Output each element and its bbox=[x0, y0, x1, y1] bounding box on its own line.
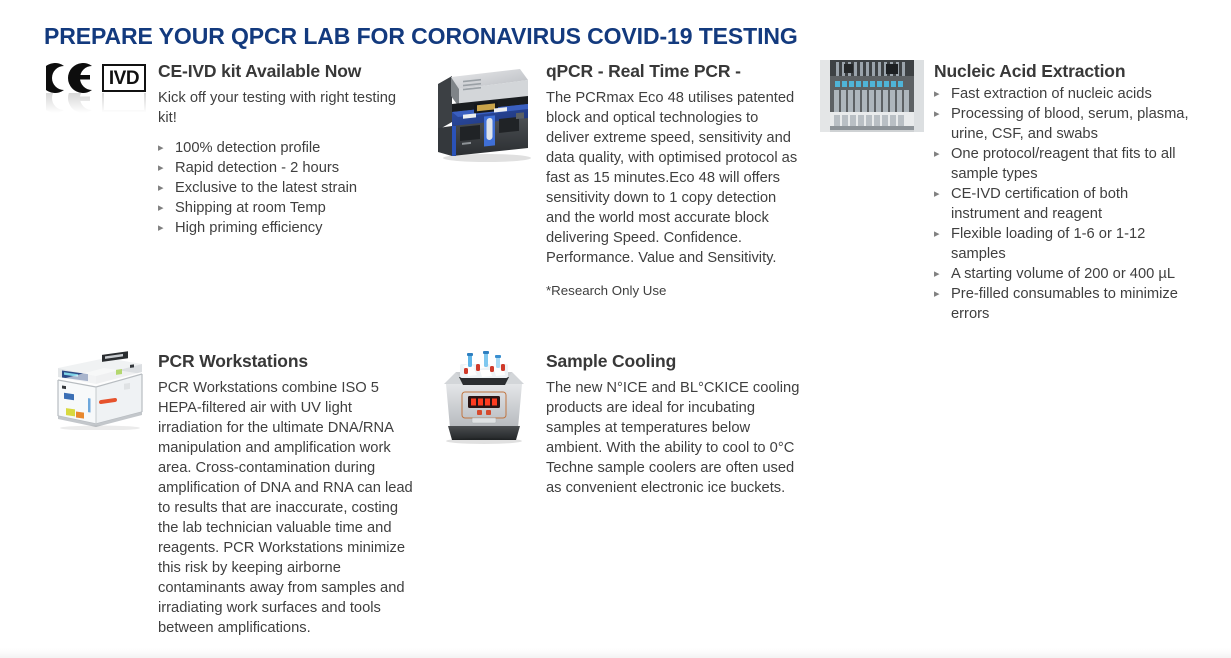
list-item-label: Processing of blood, serum, plasma, urin… bbox=[951, 106, 1189, 142]
ce-ivd-marks: IVD bbox=[44, 60, 148, 112]
bullet-icon: ▸ bbox=[934, 104, 940, 124]
ivd-label: IVD bbox=[109, 69, 139, 88]
card-note-qpcr: *Research Only Use bbox=[546, 282, 802, 300]
card-title-ce-ivd: CE-IVD kit Available Now bbox=[158, 60, 416, 82]
list-item-label: 100% detection profile bbox=[175, 140, 320, 156]
pcr-workstation-image bbox=[44, 350, 148, 430]
card-title-pcr-workstations: PCR Workstations bbox=[158, 350, 416, 372]
card-title-sample-cooling: Sample Cooling bbox=[546, 350, 802, 372]
ce-ivd-reflection bbox=[44, 93, 148, 113]
bullet-icon: ▸ bbox=[158, 158, 164, 178]
list-item-label: A starting volume of 200 or 400 µL bbox=[951, 266, 1175, 282]
bullet-list-nucleic-acid: ▸Fast extraction of nucleic acids ▸Proce… bbox=[934, 84, 1190, 324]
page-root: PREPARE YOUR QPCR LAB FOR CORONAVIRUS CO… bbox=[0, 0, 1231, 658]
list-item-label: High priming efficiency bbox=[175, 220, 322, 236]
qpcr-instrument-photo bbox=[432, 60, 536, 164]
nucleic-acid-extractor-photo bbox=[820, 60, 924, 132]
list-item: ▸Fast extraction of nucleic acids bbox=[934, 84, 1190, 104]
bullet-icon: ▸ bbox=[934, 264, 940, 284]
bullet-icon: ▸ bbox=[934, 84, 940, 104]
nucleic-acid-extractor-image bbox=[820, 60, 924, 132]
card-sample-cooling: Sample Cooling The new N°ICE and BL°CKIC… bbox=[432, 350, 802, 498]
list-item-label: Flexible loading of 1-6 or 1-12 samples bbox=[951, 226, 1145, 262]
ce-mark-icon bbox=[46, 63, 94, 93]
list-item: ▸Pre-filled consumables to minimize erro… bbox=[934, 284, 1190, 324]
list-item: ▸Rapid detection - 2 hours bbox=[158, 158, 416, 178]
card-text-pcr-workstations: PCR Workstations combine ISO 5 HEPA-filt… bbox=[158, 378, 416, 638]
list-item-label: CE-IVD certification of both instrument … bbox=[951, 186, 1128, 222]
list-item-label: Pre-filled consumables to minimize error… bbox=[951, 286, 1178, 322]
bullet-icon: ▸ bbox=[158, 178, 164, 198]
sample-cooler-image bbox=[432, 350, 536, 446]
bullet-icon: ▸ bbox=[934, 224, 940, 244]
card-qpcr: qPCR - Real Time PCR - The PCRmax Eco 48… bbox=[432, 60, 802, 300]
list-item: ▸Flexible loading of 1-6 or 1-12 samples bbox=[934, 224, 1190, 264]
card-text-sample-cooling: The new N°ICE and BL°CKICE cooling produ… bbox=[546, 378, 802, 498]
list-item: ▸Processing of blood, serum, plasma, uri… bbox=[934, 104, 1190, 144]
list-item-label: Fast extraction of nucleic acids bbox=[951, 86, 1152, 102]
page-title: PREPARE YOUR QPCR LAB FOR CORONAVIRUS CO… bbox=[44, 23, 798, 50]
card-pcr-workstations: PCR Workstations PCR Workstations combin… bbox=[44, 350, 416, 638]
bullet-icon: ▸ bbox=[158, 138, 164, 158]
list-item-label: Exclusive to the latest strain bbox=[175, 180, 357, 196]
list-item-label: Shipping at room Temp bbox=[175, 200, 326, 216]
list-item-label: One protocol/reagent that fits to all sa… bbox=[951, 146, 1176, 182]
card-text-ce-ivd: Kick off your testing with right testing… bbox=[158, 88, 416, 128]
card-nucleic-acid: Nucleic Acid Extraction ▸Fast extraction… bbox=[820, 60, 1190, 324]
pcr-workstation-photo bbox=[44, 350, 148, 430]
list-item: ▸Exclusive to the latest strain bbox=[158, 178, 416, 198]
card-text-qpcr: The PCRmax Eco 48 utilises patented bloc… bbox=[546, 88, 802, 268]
bullet-icon: ▸ bbox=[934, 284, 940, 304]
list-item: ▸Shipping at room Temp bbox=[158, 198, 416, 218]
list-item: ▸CE-IVD certification of both instrument… bbox=[934, 184, 1190, 224]
ivd-mark-icon: IVD bbox=[102, 64, 146, 92]
list-item: ▸A starting volume of 200 or 400 µL bbox=[934, 264, 1190, 284]
list-item: ▸High priming efficiency bbox=[158, 218, 416, 238]
card-title-qpcr: qPCR - Real Time PCR - bbox=[546, 60, 802, 82]
list-item: ▸One protocol/reagent that fits to all s… bbox=[934, 144, 1190, 184]
sample-cooler-photo bbox=[432, 350, 536, 446]
bullet-list-ce-ivd: ▸100% detection profile ▸Rapid detection… bbox=[158, 138, 416, 238]
bullet-icon: ▸ bbox=[158, 218, 164, 238]
list-item: ▸100% detection profile bbox=[158, 138, 416, 158]
bullet-icon: ▸ bbox=[158, 198, 164, 218]
card-ce-ivd: IVD CE-IVD kit Available Now Kick off yo… bbox=[44, 60, 416, 238]
card-title-nucleic-acid: Nucleic Acid Extraction bbox=[934, 60, 1190, 82]
bullet-icon: ▸ bbox=[934, 184, 940, 204]
page-bottom-band bbox=[0, 648, 1231, 658]
qpcr-instrument-image bbox=[432, 60, 536, 164]
bullet-icon: ▸ bbox=[934, 144, 940, 164]
list-item-label: Rapid detection - 2 hours bbox=[175, 160, 339, 176]
